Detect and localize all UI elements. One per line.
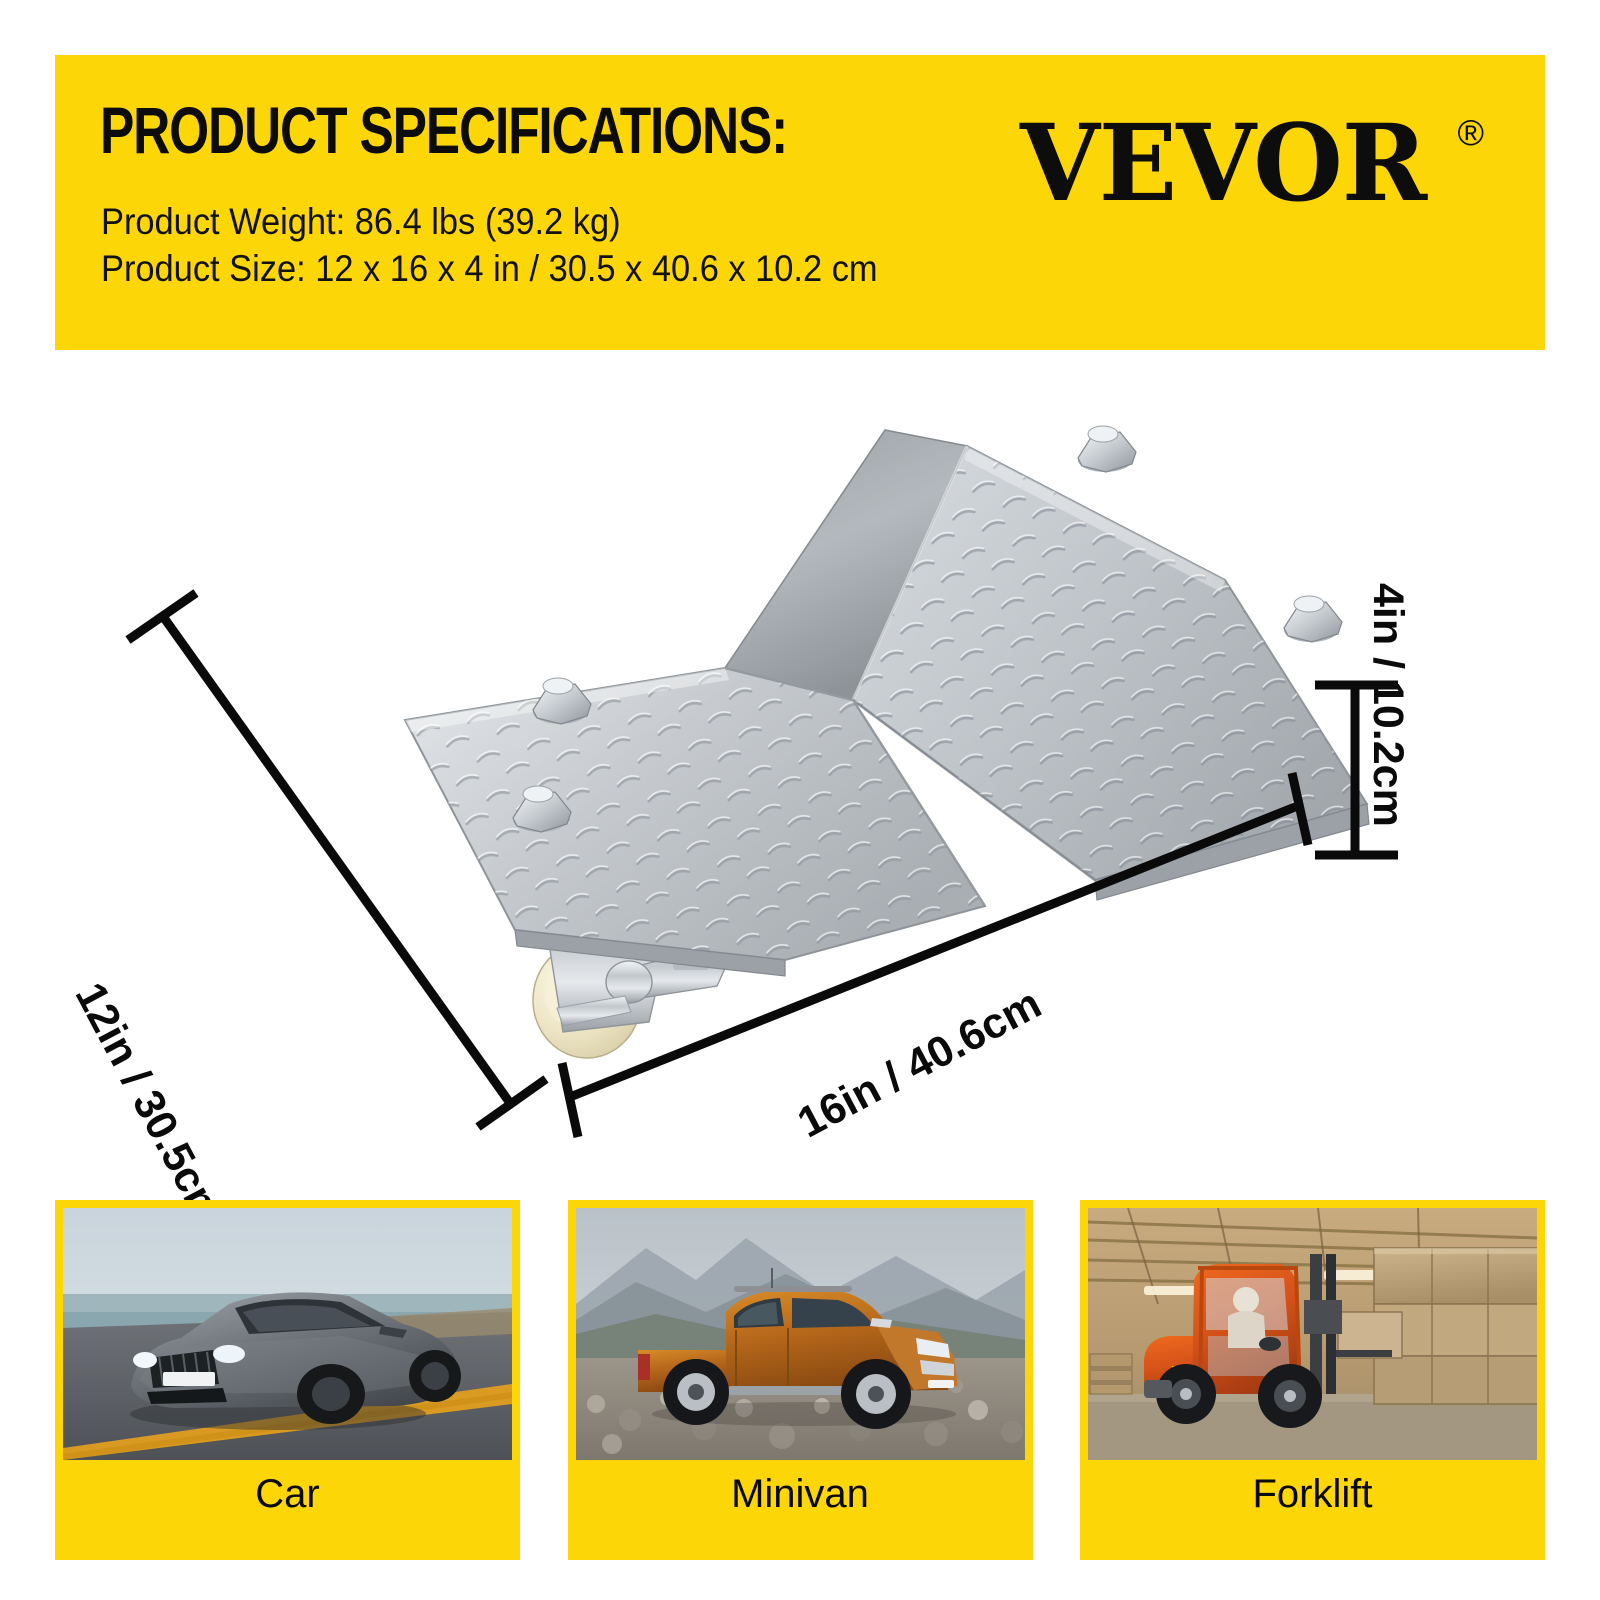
dimension-label-height: 4in / 10.2cm: [1363, 583, 1412, 827]
use-case-label-car: Car: [63, 1460, 512, 1528]
use-case-photo-minivan: [576, 1208, 1025, 1460]
use-case-card-minivan[interactable]: Minivan: [568, 1200, 1033, 1560]
dimension-annotations: [0, 355, 1600, 1160]
use-case-label-forklift: Forklift: [1088, 1460, 1537, 1528]
header-banner: PRODUCT SPECIFICATIONS: Product Weight: …: [55, 55, 1545, 350]
dimension-cap-depth-bottom: [478, 1079, 546, 1127]
dimension-cap-width-left: [562, 1063, 578, 1137]
use-case-cards: Car: [0, 1200, 1600, 1560]
use-case-label-minivan: Minivan: [576, 1460, 1025, 1528]
spec-line-weight: Product Weight: 86.4 lbs (39.2 kg): [101, 198, 1031, 245]
spec-list: Product Weight: 86.4 lbs (39.2 kg) Produ…: [101, 198, 1101, 293]
page-title: PRODUCT SPECIFICATIONS:: [100, 97, 787, 163]
use-case-card-car[interactable]: Car: [55, 1200, 520, 1560]
use-case-photo-car: [63, 1208, 512, 1460]
dimension-line-depth: [162, 615, 510, 1103]
brand-wordmark: VEVOR: [1020, 110, 1426, 216]
use-case-photo-forklift: [1088, 1208, 1537, 1460]
registered-trademark-icon: ®: [1457, 112, 1484, 154]
vevor-logo: VEVOR ®: [1020, 100, 1490, 230]
dimension-cap-depth-top: [128, 593, 196, 640]
product-stage: 12in / 30.5cm 16in / 40.6cm 4in / 10.2cm: [0, 355, 1600, 1160]
use-case-card-forklift[interactable]: Forklift: [1080, 1200, 1545, 1560]
spec-line-size: Product Size: 12 x 16 x 4 in / 30.5 x 40…: [101, 245, 1031, 292]
